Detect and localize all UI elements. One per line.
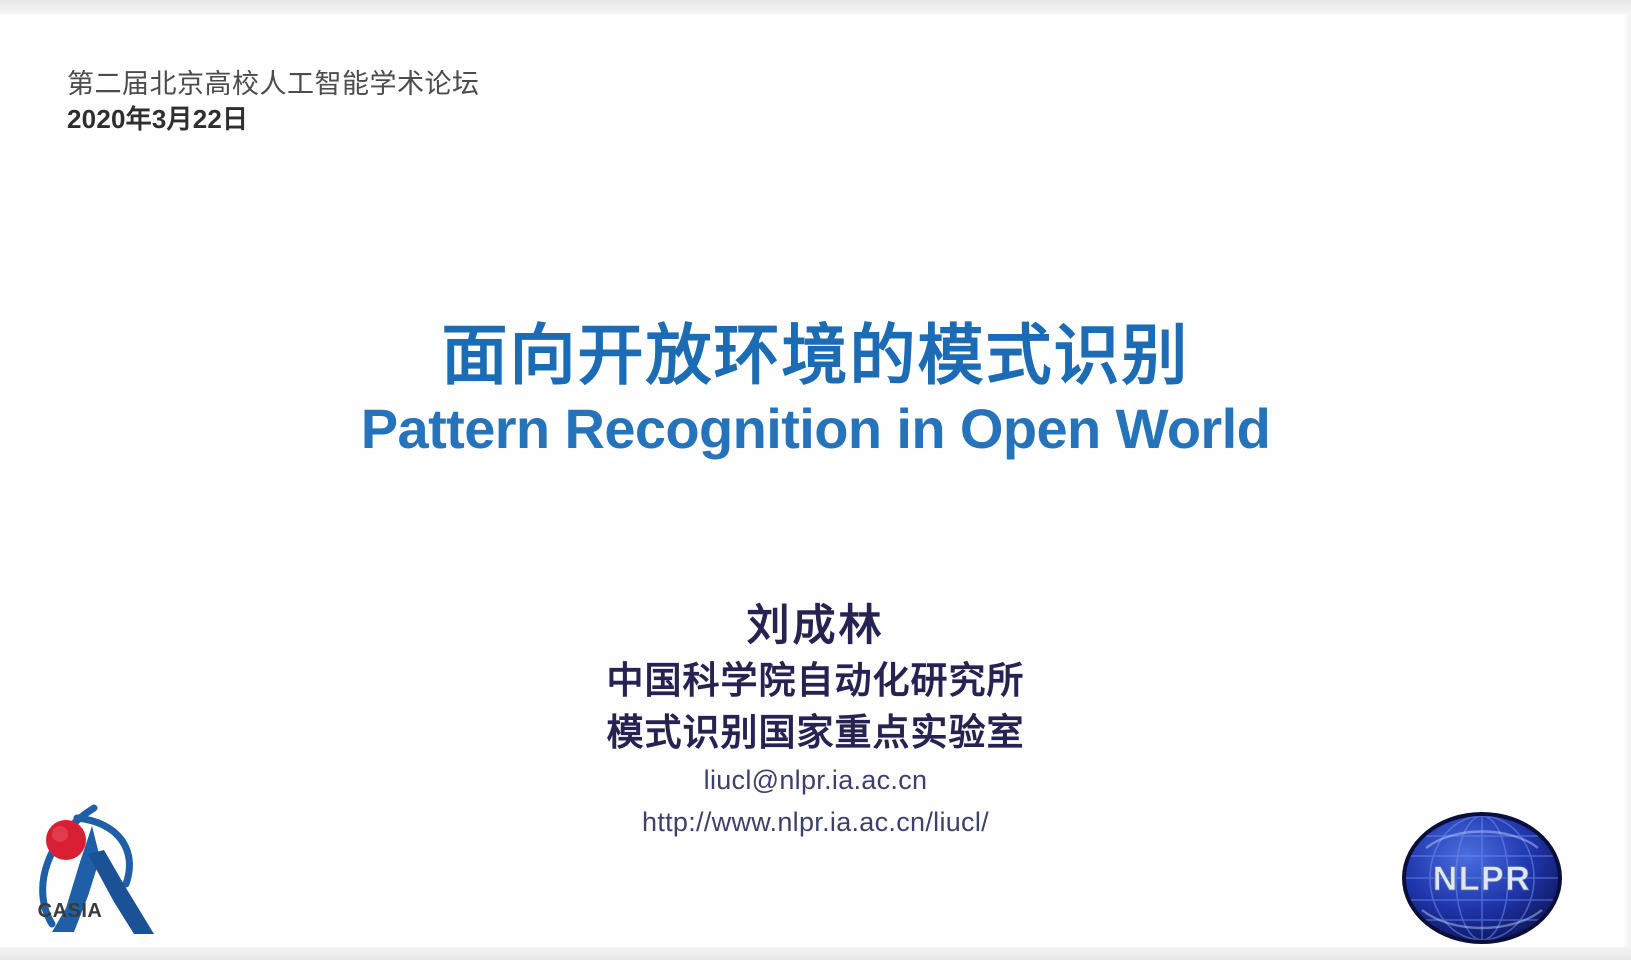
viewer-top-bar	[0, 0, 1631, 14]
slide-viewer: 第二届北京高校人工智能学术论坛 2020年3月22日 面向开放环境的模式识别 P…	[0, 0, 1631, 960]
slide-header: 第二届北京高校人工智能学术论坛 2020年3月22日	[67, 66, 480, 136]
author-email: liucl@nlpr.ia.ac.cn	[0, 759, 1631, 801]
viewer-bottom-bar	[0, 947, 1631, 960]
author-name: 刘成林	[0, 597, 1631, 655]
author-homepage: http://www.nlpr.ia.ac.cn/liucl/	[0, 801, 1631, 843]
presentation-slide: 第二届北京高校人工智能学术论坛 2020年3月22日 面向开放环境的模式识别 P…	[0, 14, 1631, 947]
title-block: 面向开放环境的模式识别 Pattern Recognition in Open …	[0, 314, 1631, 462]
casia-logo: CASIA	[22, 792, 160, 940]
nlpr-logo: NLPR	[1392, 804, 1572, 952]
event-title: 第二届北京高校人工智能学术论坛	[67, 66, 480, 102]
author-laboratory: 模式识别国家重点实验室	[0, 707, 1631, 759]
svg-text:CASIA: CASIA	[38, 900, 103, 922]
viewer-right-edge	[1623, 14, 1631, 947]
title-english: Pattern Recognition in Open World	[0, 396, 1631, 462]
author-block: 刘成林 中国科学院自动化研究所 模式识别国家重点实验室 liucl@nlpr.i…	[0, 597, 1631, 843]
svg-text:NLPR: NLPR	[1433, 860, 1532, 898]
author-institute: 中国科学院自动化研究所	[0, 655, 1631, 707]
event-date: 2020年3月22日	[67, 102, 480, 136]
title-chinese: 面向开放环境的模式识别	[0, 314, 1631, 396]
